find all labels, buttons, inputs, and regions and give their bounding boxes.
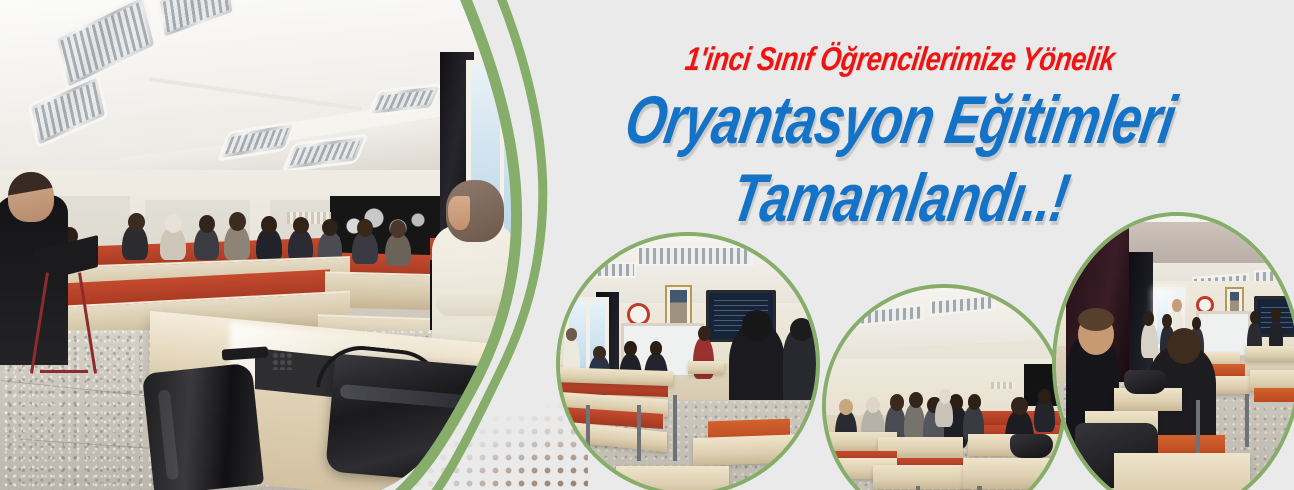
student-foreground-center-head — [1167, 328, 1201, 364]
circle-photo-1-scene — [560, 236, 816, 490]
desk-row-front — [616, 466, 729, 490]
presenter-woman-arms — [436, 290, 508, 316]
desk-row — [1245, 346, 1294, 361]
student-head — [1143, 311, 1154, 326]
desk-row-front — [873, 465, 967, 489]
student-head — [322, 219, 338, 236]
instructor-left-head — [8, 172, 54, 222]
student-head — [890, 394, 904, 411]
student — [122, 226, 148, 260]
student — [385, 234, 411, 266]
seat-row — [1254, 388, 1294, 403]
circle-photo-3 — [1052, 212, 1294, 490]
wall-strip — [991, 382, 1015, 389]
fluorescent-lamp-icon — [575, 262, 635, 279]
laptop-bag — [325, 353, 490, 484]
student-head — [293, 217, 309, 234]
orientation-banner: 1'inci Sınıf Öğrencilerimize Yönelik Ory… — [0, 0, 1294, 490]
circle-photo-3-scene — [1056, 216, 1294, 490]
desk-row-front — [963, 458, 1062, 489]
desk-leg — [637, 405, 641, 461]
student-head — [128, 213, 145, 231]
main-classroom-photo — [0, 0, 520, 490]
desk-leg — [977, 486, 982, 490]
student-head — [624, 341, 637, 356]
student-foreground-head — [742, 310, 773, 341]
desk-leg — [845, 477, 850, 490]
circle-photo-2-scene — [826, 288, 1062, 490]
title-line-1: Oryantasyon Eğitimleri — [594, 87, 1206, 155]
student-head — [390, 220, 406, 238]
headline-block: 1'inci Sınıf Öğrencilerimize Yönelik Ory… — [600, 46, 1200, 236]
student — [288, 230, 313, 261]
desk-leg — [673, 395, 677, 462]
presenter-head — [698, 326, 711, 341]
backpack — [1124, 370, 1168, 394]
desk-row-foreground — [1114, 453, 1250, 490]
student-head — [1038, 389, 1051, 403]
student — [1141, 323, 1158, 359]
student-head — [165, 214, 182, 233]
circle-photo-2 — [822, 284, 1066, 490]
student-head — [357, 219, 373, 237]
kicker-text: 1'inci Sınıf Öğrencilerimize Yönelik — [598, 43, 1203, 76]
student-head — [968, 394, 981, 409]
fluorescent-lamp-icon — [637, 246, 754, 265]
student — [224, 226, 250, 260]
presenter-woman-face — [448, 196, 470, 230]
presenter-head — [1172, 299, 1182, 312]
desk-row-foreground — [693, 434, 811, 466]
student-head — [229, 212, 246, 231]
student-head — [199, 215, 215, 233]
backpack — [1010, 434, 1052, 458]
keys — [272, 352, 294, 370]
desk-leg — [586, 405, 590, 461]
student-head — [261, 216, 277, 234]
student-head — [1011, 397, 1028, 416]
office-chair — [142, 363, 264, 490]
laptop-stand — [36, 272, 94, 382]
student — [1034, 399, 1055, 432]
main-photo-scene — [0, 0, 520, 490]
whiteboard — [1196, 311, 1250, 358]
desk-leg — [1245, 394, 1249, 447]
circle-photo-1 — [556, 232, 820, 490]
student-head — [909, 392, 923, 409]
desk-leg — [1196, 400, 1200, 453]
podium — [688, 361, 724, 374]
desk-leg — [916, 486, 921, 490]
student-head — [1192, 317, 1202, 330]
student-head-scarf — [939, 389, 951, 403]
student-head — [1271, 308, 1281, 321]
